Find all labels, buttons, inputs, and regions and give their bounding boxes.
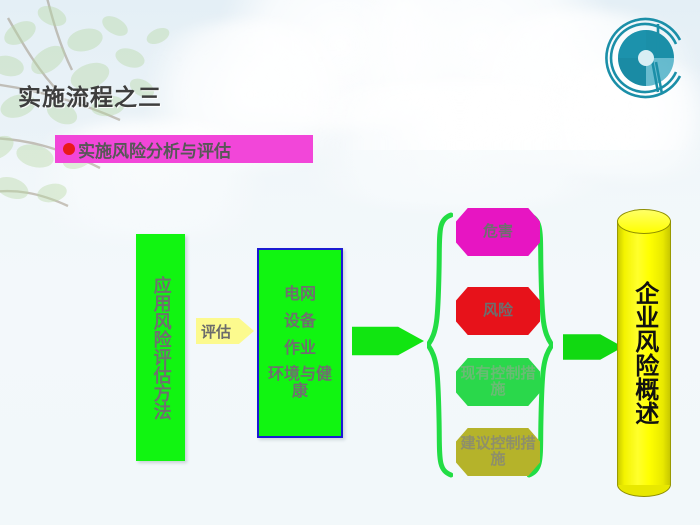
element-label: 现有控制措施 bbox=[456, 366, 540, 398]
evaluate-arrow-label: 评估 bbox=[201, 321, 231, 342]
scope-box: 电网 设备 作业 环境与健康 bbox=[257, 248, 343, 438]
output-cylinder-label-wrap: 企业风险概述 bbox=[617, 221, 671, 485]
subtitle-label: 实施风险分析与评估 bbox=[78, 137, 231, 162]
element-risk: 风险 bbox=[456, 287, 540, 335]
element-hazard: 危害 bbox=[456, 208, 540, 256]
subtitle-banner: 实施风险分析与评估 bbox=[55, 135, 313, 163]
input-method-column: 应用风险评估方法 bbox=[136, 234, 185, 461]
element-label: 危害 bbox=[483, 224, 513, 240]
element-label: 风险 bbox=[483, 303, 513, 319]
element-existing-controls: 现有控制措施 bbox=[456, 358, 540, 406]
red-dot-icon bbox=[63, 143, 75, 155]
output-cylinder: 企业风险概述 bbox=[617, 209, 671, 497]
output-cylinder-label: 企业风险概述 bbox=[631, 281, 656, 425]
scope-line: 环境与健康 bbox=[264, 366, 336, 400]
scope-line: 电网 bbox=[284, 286, 316, 303]
element-recommended-controls: 建议控制措施 bbox=[456, 428, 540, 476]
company-circular-logo-icon bbox=[600, 10, 692, 102]
scope-line: 设备 bbox=[284, 313, 316, 330]
scope-line: 作业 bbox=[284, 340, 316, 357]
input-method-label: 应用风险评估方法 bbox=[151, 276, 169, 420]
page-title: 实施流程之三 bbox=[18, 78, 162, 112]
element-label: 建议控制措施 bbox=[456, 436, 540, 468]
slide-canvas: 实施流程之三 实施风险分析与评估 应用风险评估方法 评估 电网 设备 作业 环境… bbox=[0, 0, 700, 525]
